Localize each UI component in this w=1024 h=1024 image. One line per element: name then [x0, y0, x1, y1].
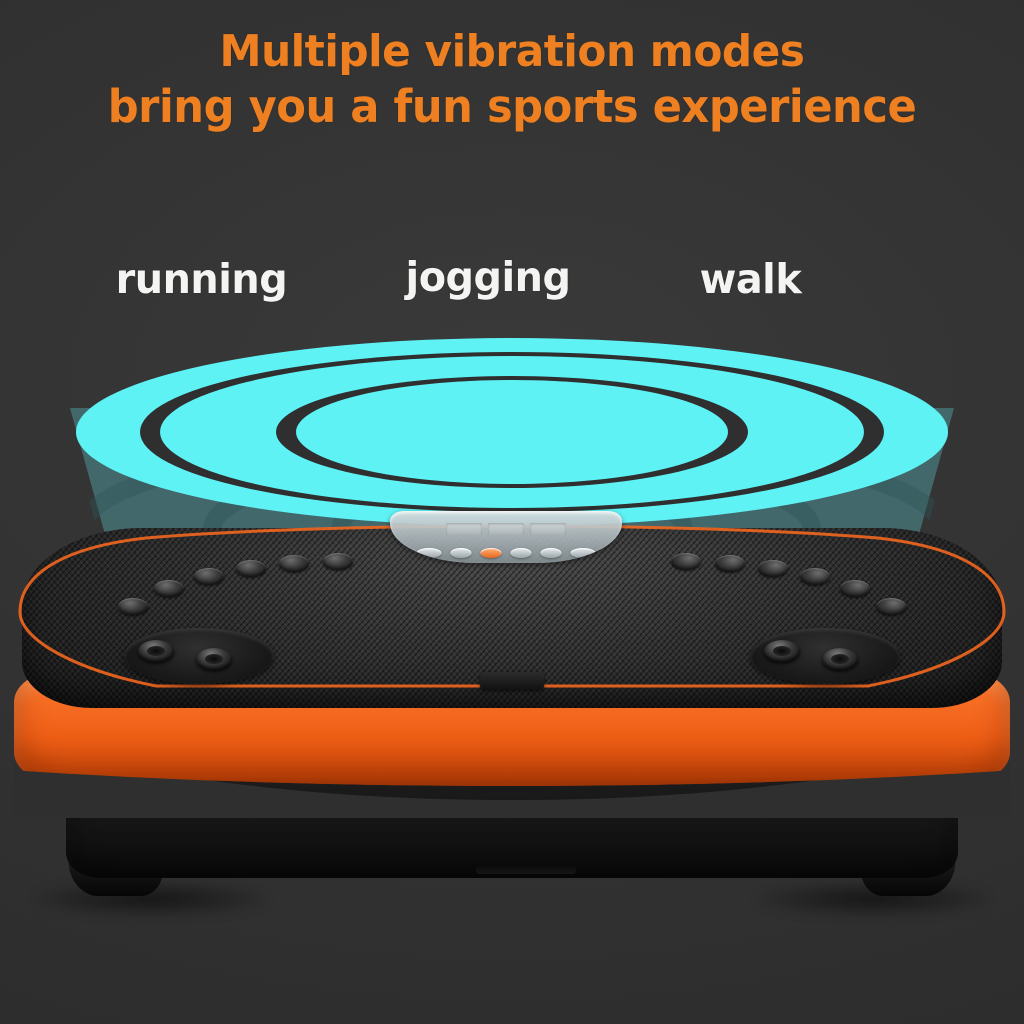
pad-knob: [764, 640, 800, 662]
pad-knob: [138, 640, 174, 662]
massage-node: [715, 555, 745, 572]
display-segment: [488, 523, 524, 535]
massage-node: [671, 553, 701, 570]
display-segment: [530, 523, 566, 535]
power-button[interactable]: [571, 548, 596, 558]
control-panel[interactable]: [390, 511, 622, 563]
massage-node: [118, 598, 148, 615]
mode-button[interactable]: [417, 548, 442, 558]
plus-button[interactable]: [541, 548, 562, 558]
timer-button[interactable]: [511, 548, 532, 558]
massage-node: [840, 580, 870, 597]
mode-label-jogging: jogging: [406, 253, 571, 301]
massage-node: [154, 580, 184, 597]
display-segment: [446, 523, 482, 535]
mode-label-running: running: [116, 255, 288, 303]
massage-node: [323, 553, 353, 570]
massage-node: [800, 568, 830, 585]
headline: Multiple vibration modes bring you a fun…: [20, 24, 1003, 134]
upper-wave-rings: [76, 338, 948, 526]
headline-line-2: bring you a fun sports experience: [20, 79, 1003, 134]
mode-label-walk: walk: [700, 255, 802, 303]
minus-button[interactable]: [451, 548, 472, 558]
massage-node: [194, 568, 224, 585]
massage-node: [279, 555, 309, 572]
panel-display: [446, 523, 566, 535]
foot-pad-right[interactable]: [750, 628, 900, 684]
deck-front-tab: [480, 672, 544, 690]
vibration-plate-machine[interactable]: [8, 520, 1016, 920]
panel-button-row: [417, 548, 596, 558]
speed-button[interactable]: [481, 548, 502, 558]
massage-node: [236, 560, 266, 577]
massage-node: [758, 560, 788, 577]
pad-knob: [196, 648, 232, 670]
foot-pad-left[interactable]: [124, 628, 274, 684]
headline-line-1: Multiple vibration modes: [20, 24, 1003, 79]
pad-knob: [822, 648, 858, 670]
massage-node: [876, 598, 906, 615]
product-banner: Multiple vibration modes bring you a fun…: [0, 0, 1024, 1024]
